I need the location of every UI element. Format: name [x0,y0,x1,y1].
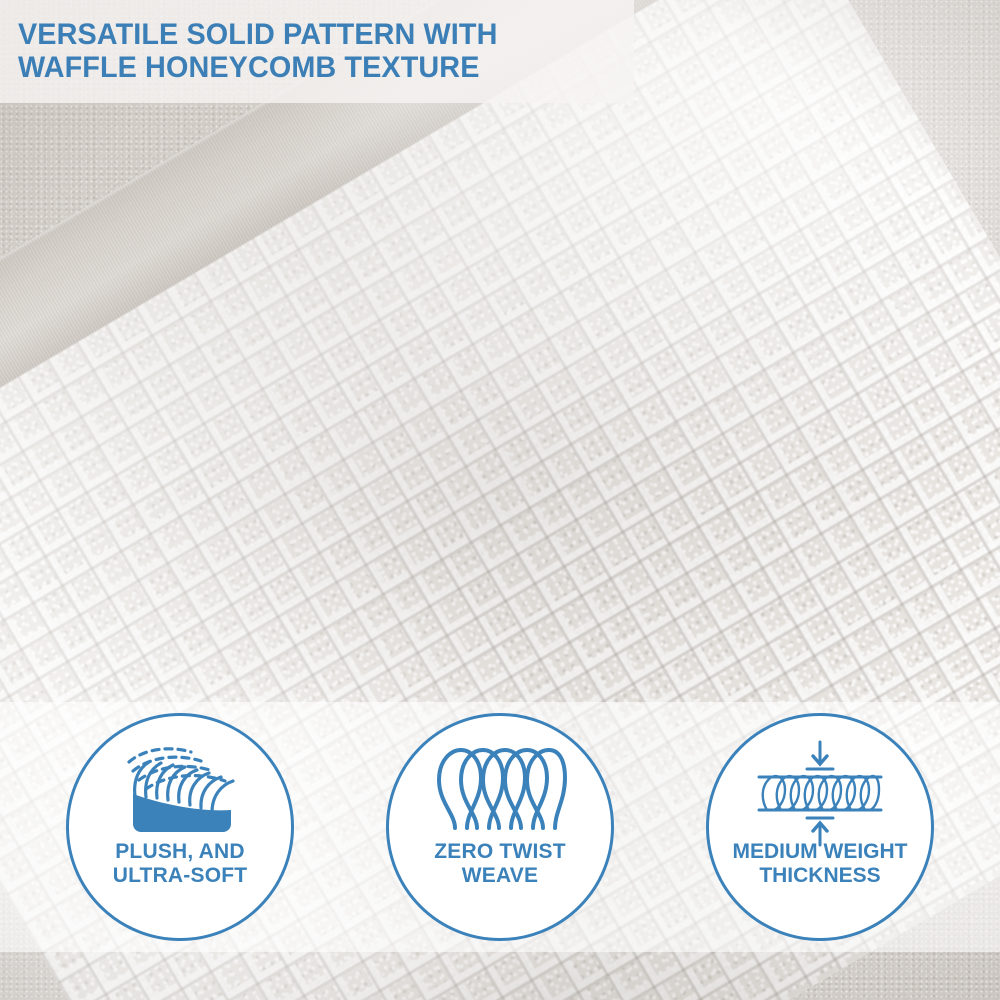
feature-badge-label: PLUSH, AND ULTRA-SOFT [65,840,295,889]
plush-pile-fabric-icon [105,742,255,834]
zero-twist-loops-icon [425,742,575,834]
page-title: VERSATILE SOLID PATTERN WITH WAFFLE HONE… [18,18,584,84]
feature-badge-plush[interactable]: PLUSH, AND ULTRA-SOFT [66,713,294,941]
feature-badge-label: MEDIUM WEIGHT THICKNESS [696,840,944,889]
thickness-arrows-icon [745,742,895,834]
product-feature-image: VERSATILE SOLID PATTERN WITH WAFFLE HONE… [0,0,1000,1000]
feature-badge-zero-twist[interactable]: ZERO TWIST WEAVE [386,713,614,941]
feature-badge-list: PLUSH, AND ULTRA-SOFT [0,702,1000,952]
feature-badge-thickness[interactable]: MEDIUM WEIGHT THICKNESS [706,713,934,941]
feature-badge-label: ZERO TWIST WEAVE [385,840,615,889]
headline-banner: VERSATILE SOLID PATTERN WITH WAFFLE HONE… [0,0,634,103]
feature-band: PLUSH, AND ULTRA-SOFT [0,702,1000,952]
